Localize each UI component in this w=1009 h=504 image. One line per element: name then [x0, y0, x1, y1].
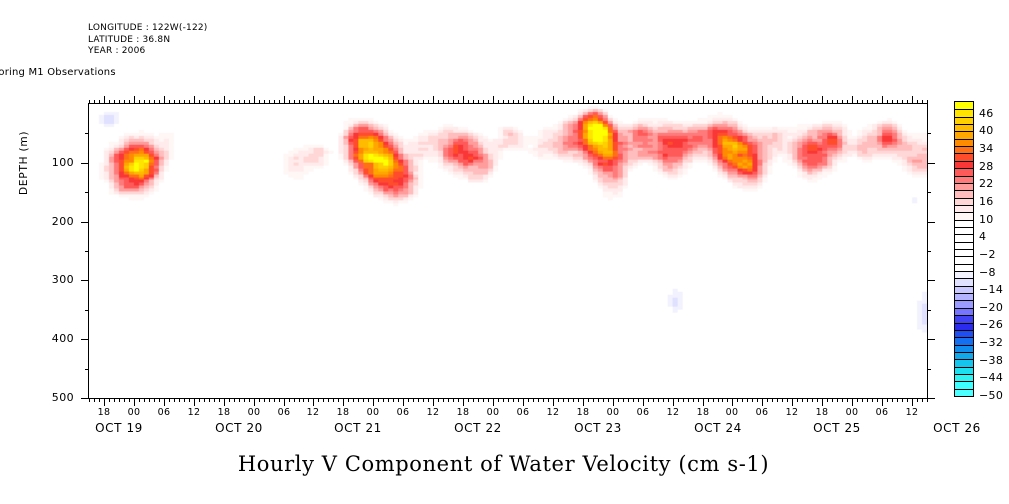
colorbar-tick-label: 10 [979, 213, 994, 226]
x-tick-top [917, 100, 918, 104]
y-tick-right [927, 222, 935, 223]
x-tick-minor [588, 398, 589, 402]
colorbar-separator [955, 198, 973, 199]
x-tick-minor [807, 398, 808, 402]
x-tick-minor [264, 398, 265, 402]
x-tick-top [638, 100, 639, 104]
x-tick-minor [378, 398, 379, 402]
x-tick-hour-label: 18 [89, 407, 119, 418]
x-tick-minor [812, 398, 813, 402]
x-tick-top [453, 100, 454, 104]
x-tick-top [279, 100, 280, 104]
x-tick-top [199, 100, 200, 104]
x-tick-top [209, 100, 210, 104]
x-tick-top [737, 100, 738, 104]
colorbar-tick-label: 40 [979, 124, 994, 137]
x-tick-minor [603, 398, 604, 402]
y-axis-depth-label: 500 [34, 391, 74, 404]
x-tick-minor [443, 398, 444, 402]
x-tick-top [618, 100, 619, 104]
x-tick-top [129, 100, 130, 104]
x-tick-top [204, 100, 205, 104]
x-tick-major [313, 398, 314, 406]
x-tick-minor [368, 398, 369, 402]
x-tick-minor [229, 398, 230, 402]
x-tick-top [553, 96, 554, 104]
x-tick-top [353, 100, 354, 104]
x-tick-minor [508, 398, 509, 402]
x-tick-top [862, 100, 863, 104]
x-tick-minor [727, 398, 728, 402]
colorbar-separator [955, 330, 973, 331]
colorbar [954, 101, 974, 397]
x-tick-major [583, 398, 584, 406]
x-tick-hour-label: 12 [538, 407, 568, 418]
y-tick-major [81, 163, 89, 164]
colorbar-separator [955, 212, 973, 213]
x-tick-hour-label: 06 [628, 407, 658, 418]
x-tick-minor [892, 398, 893, 402]
x-tick-top [762, 96, 763, 104]
colorbar-separator [955, 176, 973, 177]
x-tick-minor [718, 398, 719, 402]
x-tick-top [907, 100, 908, 104]
x-tick-top [927, 100, 928, 104]
x-tick-minor [323, 398, 324, 402]
x-tick-minor [902, 398, 903, 402]
x-tick-top [174, 100, 175, 104]
x-axis-date-label: OCT 22 [438, 421, 518, 435]
x-tick-minor [468, 398, 469, 402]
x-tick-top [822, 96, 823, 104]
x-tick-top [578, 100, 579, 104]
x-tick-major [194, 398, 195, 406]
x-tick-top [633, 100, 634, 104]
x-tick-top [807, 100, 808, 104]
x-tick-minor [528, 398, 529, 402]
x-tick-minor [767, 398, 768, 402]
x-tick-minor [94, 398, 95, 402]
x-tick-minor [348, 398, 349, 402]
x-tick-minor [333, 398, 334, 402]
x-tick-top [438, 100, 439, 104]
x-tick-top [698, 100, 699, 104]
x-tick-minor [872, 398, 873, 402]
x-axis-date-label: OCT 19 [79, 421, 159, 435]
x-axis-date-label: OCT 24 [678, 421, 758, 435]
x-tick-hour-label: 06 [388, 407, 418, 418]
x-tick-top [159, 100, 160, 104]
x-tick-top [713, 100, 714, 104]
x-tick-top [513, 100, 514, 104]
x-tick-top [528, 100, 529, 104]
colorbar-separator [955, 308, 973, 309]
x-tick-top [498, 100, 499, 104]
x-tick-top [104, 96, 105, 104]
colorbar-tick-label: −38 [979, 354, 1003, 367]
x-tick-minor [89, 398, 90, 402]
x-tick-minor [234, 398, 235, 402]
x-tick-top [124, 100, 125, 104]
x-tick-minor [184, 398, 185, 402]
x-tick-top [718, 100, 719, 104]
x-tick-top [259, 100, 260, 104]
figure-caption: Hourly V Component of Water Velocity (cm… [0, 452, 1009, 476]
x-tick-top [318, 100, 319, 104]
x-tick-top [473, 100, 474, 104]
x-tick-minor [318, 398, 319, 402]
x-tick-top [767, 100, 768, 104]
x-tick-top [299, 100, 300, 104]
x-tick-top [468, 100, 469, 104]
x-tick-minor [618, 398, 619, 402]
x-tick-top [423, 100, 424, 104]
x-tick-top [99, 100, 100, 104]
x-tick-top [598, 100, 599, 104]
x-tick-minor [638, 398, 639, 402]
x-tick-hour-label: 18 [448, 407, 478, 418]
x-tick-top [792, 96, 793, 104]
x-tick-major [912, 398, 913, 406]
x-tick-minor [279, 398, 280, 402]
x-tick-top [523, 96, 524, 104]
x-tick-major [403, 398, 404, 406]
x-tick-top [548, 100, 549, 104]
y-tick-minor [85, 192, 89, 193]
x-tick-hour-label: 00 [717, 407, 747, 418]
x-tick-top [827, 100, 828, 104]
x-tick-minor [648, 398, 649, 402]
y-tick-major [81, 398, 89, 399]
x-tick-top [832, 100, 833, 104]
x-tick-top [488, 100, 489, 104]
colorbar-separator [955, 264, 973, 265]
x-tick-minor [129, 398, 130, 402]
x-axis-date-label: OCT 23 [558, 421, 638, 435]
x-tick-hour-label: 00 [239, 407, 269, 418]
colorbar-separator [955, 153, 973, 154]
x-tick-minor [149, 398, 150, 402]
x-tick-minor [628, 398, 629, 402]
colorbar-separator [955, 278, 973, 279]
x-tick-top [837, 100, 838, 104]
x-tick-minor [558, 398, 559, 402]
x-tick-minor [708, 398, 709, 402]
x-tick-minor [698, 398, 699, 402]
x-tick-top [378, 100, 379, 104]
station-metadata: LONGITUDE : 122W(-122) LATITUDE : 36.8N … [88, 23, 208, 58]
x-tick-top [688, 100, 689, 104]
x-tick-top [363, 100, 364, 104]
x-tick-major [433, 398, 434, 406]
colorbar-separator [955, 315, 973, 316]
x-tick-minor [219, 398, 220, 402]
x-tick-minor [453, 398, 454, 402]
x-tick-minor [289, 398, 290, 402]
x-tick-top [558, 100, 559, 104]
colorbar-tick-label: −44 [979, 371, 1003, 384]
x-tick-top [328, 100, 329, 104]
x-tick-top [493, 96, 494, 104]
x-tick-top [373, 96, 374, 104]
x-tick-hour-label: 00 [598, 407, 628, 418]
x-tick-minor [847, 398, 848, 402]
colorbar-separator [955, 359, 973, 360]
x-tick-hour-label: 18 [568, 407, 598, 418]
x-tick-minor [498, 398, 499, 402]
colorbar-separator [955, 242, 973, 243]
x-tick-minor [438, 398, 439, 402]
colorbar-separator [955, 168, 973, 169]
x-tick-top [338, 100, 339, 104]
colorbar-separator [955, 286, 973, 287]
x-tick-minor [398, 398, 399, 402]
colorbar-separator [955, 220, 973, 221]
x-tick-top [503, 100, 504, 104]
x-tick-top [333, 100, 334, 104]
x-tick-top [144, 100, 145, 104]
y-axis-depth-label: 200 [34, 215, 74, 228]
x-tick-minor [772, 398, 773, 402]
x-tick-top [912, 96, 913, 104]
x-tick-top [757, 100, 758, 104]
x-tick-major [792, 398, 793, 406]
y-axis-title: DEPTH (m) [18, 131, 30, 195]
x-tick-hour-label: 18 [688, 407, 718, 418]
x-tick-major [104, 398, 105, 406]
colorbar-tick-label: −20 [979, 301, 1003, 314]
x-tick-top [683, 100, 684, 104]
x-tick-minor [683, 398, 684, 402]
x-tick-minor [608, 398, 609, 402]
x-tick-minor [154, 398, 155, 402]
x-tick-minor [139, 398, 140, 402]
y-tick-right [927, 310, 931, 311]
x-tick-minor [363, 398, 364, 402]
x-tick-minor [573, 398, 574, 402]
y-tick-minor [85, 251, 89, 252]
x-tick-hour-label: 06 [867, 407, 897, 418]
x-tick-top [383, 100, 384, 104]
x-tick-major [224, 398, 225, 406]
x-tick-top [114, 100, 115, 104]
x-tick-top [274, 100, 275, 104]
plot-title: Hourly Gridded Mooring M1 Observations [0, 67, 1009, 78]
x-tick-top [119, 100, 120, 104]
x-tick-minor [693, 398, 694, 402]
x-tick-top [603, 100, 604, 104]
x-tick-minor [538, 398, 539, 402]
y-tick-minor [85, 310, 89, 311]
x-tick-minor [713, 398, 714, 402]
x-tick-top [508, 100, 509, 104]
latitude-text: LATITUDE : 36.8N [88, 35, 208, 47]
x-tick-top [588, 100, 589, 104]
x-tick-major [493, 398, 494, 406]
x-tick-top [139, 100, 140, 104]
x-tick-minor [358, 398, 359, 402]
y-tick-right [927, 133, 931, 134]
velocity-heatmap-canvas [89, 104, 927, 398]
colorbar-separator [955, 293, 973, 294]
x-tick-top [264, 100, 265, 104]
colorbar-tick-label: −14 [979, 283, 1003, 296]
x-tick-minor [124, 398, 125, 402]
x-tick-minor [633, 398, 634, 402]
colorbar-separator [955, 300, 973, 301]
colorbar-tick-label: −8 [979, 266, 996, 279]
x-tick-top [857, 100, 858, 104]
x-axis-date-label: OCT 20 [199, 421, 279, 435]
x-tick-minor [598, 398, 599, 402]
colorbar-separator [955, 190, 973, 191]
x-tick-minor [922, 398, 923, 402]
colorbar-separator [955, 183, 973, 184]
colorbar-tick-label: 16 [979, 195, 994, 208]
x-tick-major [852, 398, 853, 406]
y-tick-minor [85, 133, 89, 134]
x-tick-top [673, 96, 674, 104]
x-tick-major [762, 398, 763, 406]
x-tick-minor [328, 398, 329, 402]
x-tick-top [398, 100, 399, 104]
x-tick-top [892, 100, 893, 104]
x-tick-minor [503, 398, 504, 402]
x-tick-top [269, 100, 270, 104]
x-tick-minor [837, 398, 838, 402]
x-tick-top [463, 96, 464, 104]
x-tick-minor [827, 398, 828, 402]
x-tick-minor [857, 398, 858, 402]
colorbar-separator [955, 234, 973, 235]
x-tick-top [443, 100, 444, 104]
x-tick-top [154, 100, 155, 104]
x-tick-minor [458, 398, 459, 402]
x-tick-top [543, 100, 544, 104]
colorbar-separator [955, 161, 973, 162]
x-tick-top [777, 100, 778, 104]
colorbar-separator [955, 381, 973, 382]
x-tick-hour-label: 06 [508, 407, 538, 418]
colorbar-separator [955, 124, 973, 125]
figure-caption-text: Hourly V Component of Water Velocity (cm… [238, 452, 769, 476]
x-axis-date-label: OCT 26 [917, 421, 997, 435]
x-tick-top [623, 100, 624, 104]
x-tick-minor [747, 398, 748, 402]
colorbar-tick-label: 46 [979, 107, 994, 120]
colorbar-tick-label: 22 [979, 177, 994, 190]
x-tick-minor [563, 398, 564, 402]
x-tick-minor [842, 398, 843, 402]
x-tick-top [887, 100, 888, 104]
y-tick-major [81, 339, 89, 340]
x-tick-top [722, 100, 723, 104]
x-tick-top [872, 100, 873, 104]
x-tick-minor [209, 398, 210, 402]
x-tick-top [573, 100, 574, 104]
x-tick-minor [757, 398, 758, 402]
x-tick-top [727, 100, 728, 104]
x-tick-top [254, 96, 255, 104]
y-axis-depth-label: 300 [34, 273, 74, 286]
x-tick-hour-label: 12 [897, 407, 927, 418]
x-tick-top [608, 100, 609, 104]
x-tick-minor [867, 398, 868, 402]
x-tick-minor [518, 398, 519, 402]
x-tick-minor [109, 398, 110, 402]
x-tick-minor [568, 398, 569, 402]
x-tick-hour-label: 12 [179, 407, 209, 418]
x-tick-top [229, 100, 230, 104]
x-tick-major [613, 398, 614, 406]
x-tick-minor [877, 398, 878, 402]
x-tick-major [703, 398, 704, 406]
x-tick-top [787, 100, 788, 104]
x-tick-top [169, 100, 170, 104]
x-tick-minor [513, 398, 514, 402]
x-tick-top [234, 100, 235, 104]
x-tick-top [249, 100, 250, 104]
x-tick-minor [777, 398, 778, 402]
x-tick-minor [159, 398, 160, 402]
x-tick-major [164, 398, 165, 406]
x-tick-major [553, 398, 554, 406]
colorbar-tick-label: 4 [979, 230, 986, 243]
x-tick-top [478, 100, 479, 104]
x-tick-top [109, 100, 110, 104]
y-tick-major [81, 222, 89, 223]
x-tick-minor [578, 398, 579, 402]
x-tick-minor [742, 398, 743, 402]
x-tick-top [817, 100, 818, 104]
x-tick-hour-label: 00 [478, 407, 508, 418]
x-tick-top [289, 100, 290, 104]
x-tick-top [882, 96, 883, 104]
colorbar-separator [955, 227, 973, 228]
x-tick-minor [308, 398, 309, 402]
x-tick-minor [114, 398, 115, 402]
x-tick-top [194, 96, 195, 104]
x-tick-minor [294, 398, 295, 402]
x-tick-top [134, 96, 135, 104]
colorbar-separator [955, 205, 973, 206]
x-tick-top [413, 100, 414, 104]
x-tick-top [732, 96, 733, 104]
x-tick-top [812, 100, 813, 104]
x-tick-minor [543, 398, 544, 402]
x-tick-top [643, 96, 644, 104]
x-tick-minor [623, 398, 624, 402]
x-tick-top [867, 100, 868, 104]
y-tick-major [81, 280, 89, 281]
x-tick-minor [423, 398, 424, 402]
x-tick-minor [239, 398, 240, 402]
colorbar-separator [955, 389, 973, 390]
x-tick-minor [897, 398, 898, 402]
x-tick-minor [99, 398, 100, 402]
y-tick-right [927, 339, 935, 340]
x-tick-minor [483, 398, 484, 402]
x-tick-top [847, 100, 848, 104]
x-tick-top [568, 100, 569, 104]
x-tick-major [732, 398, 733, 406]
x-tick-hour-label: 00 [119, 407, 149, 418]
x-tick-top [902, 100, 903, 104]
x-tick-major [134, 398, 135, 406]
x-tick-top [593, 100, 594, 104]
x-tick-top [164, 96, 165, 104]
x-tick-hour-label: 18 [209, 407, 239, 418]
